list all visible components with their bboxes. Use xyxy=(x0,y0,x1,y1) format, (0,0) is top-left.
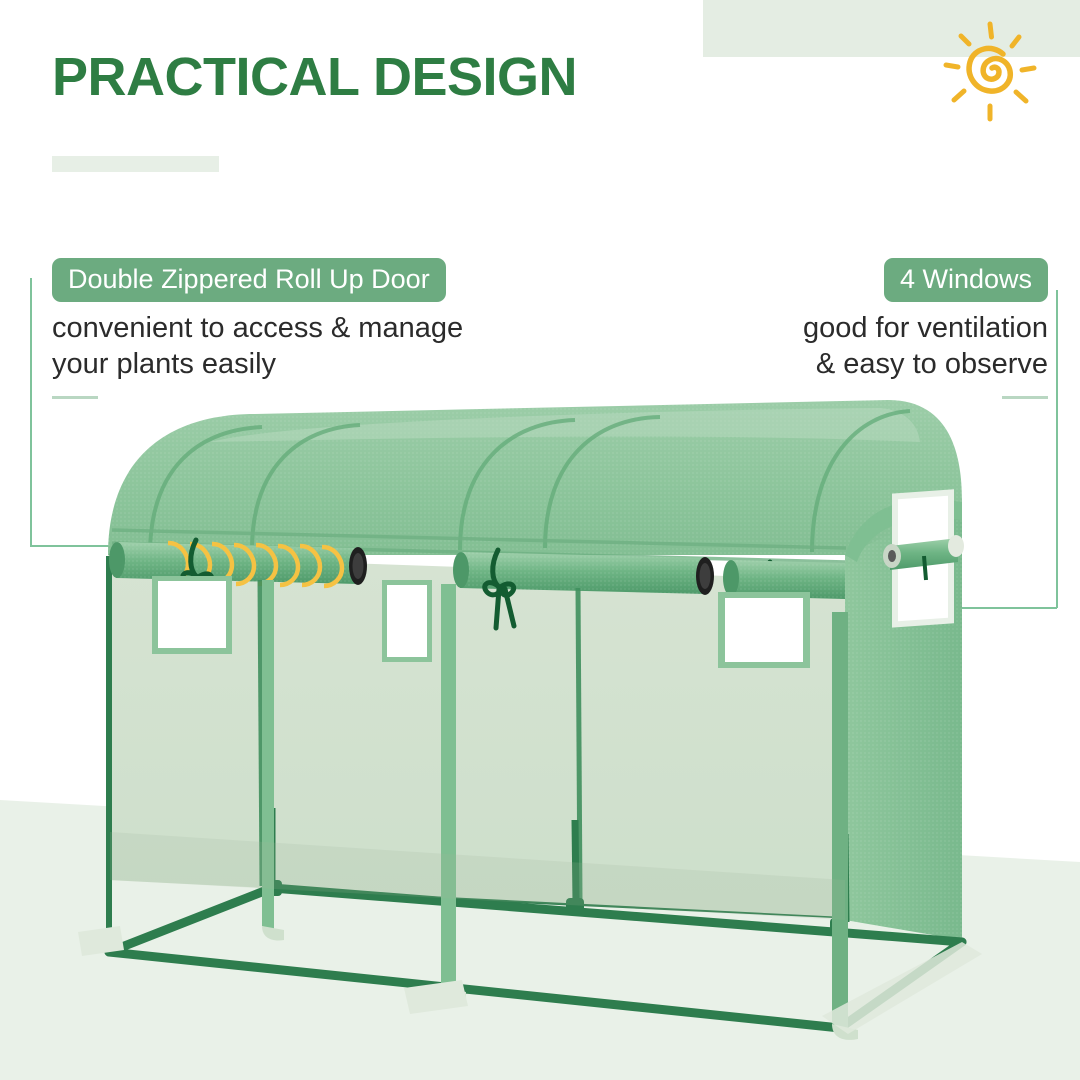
callout-door-badge: Double Zippered Roll Up Door xyxy=(52,258,446,302)
sun-spiral-icon xyxy=(930,18,1050,138)
page-title: PRACTICAL DESIGN xyxy=(52,46,577,108)
title-underline-bar xyxy=(52,156,219,172)
callout-windows-description: good for ventilation & easy to observe xyxy=(803,311,1048,382)
window-1 xyxy=(152,576,232,654)
callout-door-description: convenient to access & manage your plant… xyxy=(52,311,463,382)
infographic-page: PRACTICAL DESIGN Double Zipp xyxy=(0,0,1080,1080)
greenhouse-product-image xyxy=(0,380,1080,1080)
callout-windows-badge: 4 Windows xyxy=(884,258,1048,302)
window-2 xyxy=(382,580,432,662)
callout-door: Double Zippered Roll Up Door convenient … xyxy=(52,258,463,399)
callout-windows: 4 Windows good for ventilation & easy to… xyxy=(803,258,1048,399)
window-3 xyxy=(718,592,810,668)
